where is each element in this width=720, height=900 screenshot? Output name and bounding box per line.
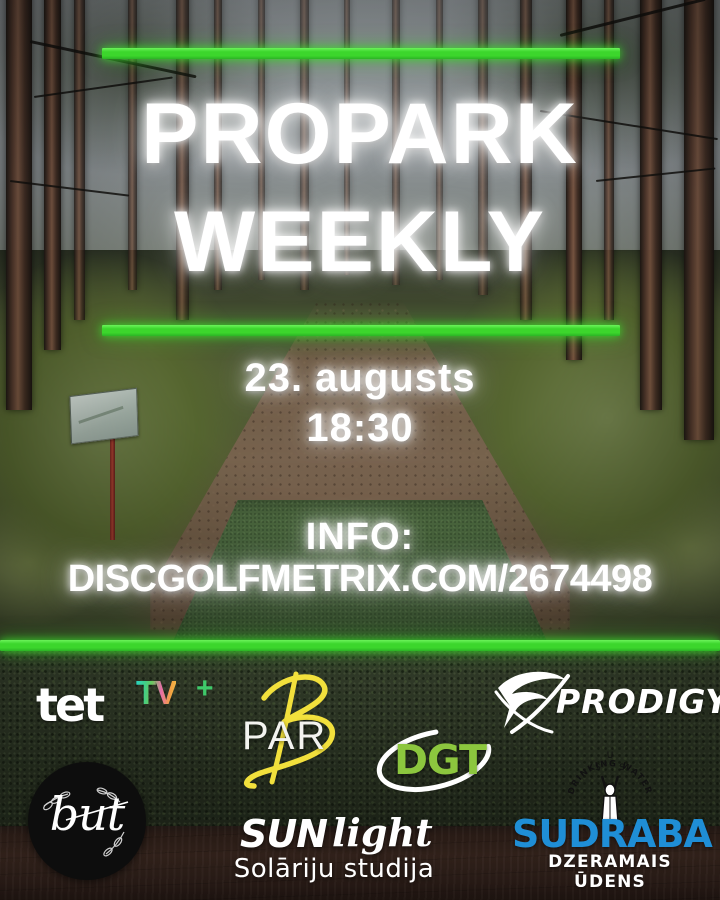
event-date: 23. augusts [0,354,720,402]
sunlight-sun-wordmark: SUN [240,812,327,856]
but-wordmark: but [28,788,146,840]
tet-plus-icon: + [196,672,214,706]
info-url: DISCGOLFMETRIX.COM/2674498 [0,556,720,602]
event-time: 18:30 [0,404,720,452]
divider-bar-top [102,48,620,59]
event-poster: PROPARK WEEKLY 23. augusts 18:30 INFO: D… [0,0,720,900]
tet-wordmark: tet [36,678,102,732]
sunlight-subtitle: Solāriju studija [228,854,440,884]
sponsor-logo-sudraba[interactable]: U S S DRINKING WATER SUDRABA DZERAMAIS Ū… [512,746,708,878]
sudraba-subtitle: DZERAMAIS ŪDENS [512,852,708,892]
dgt-wordmark: DGT [394,736,486,784]
sponsor-logo-3par[interactable]: PAR [232,662,350,790]
3par-wordmark: PAR [242,714,327,759]
divider-bar-bottom [0,640,720,651]
prodigy-wordmark: PRODIGY [556,682,720,721]
liberty-monument-icon: U S S DRINKING WATER [568,746,652,822]
sponsor-logo-sunlight[interactable]: SUN light Solāriju studija [228,812,440,884]
sudraba-wordmark: SUDRABA [512,812,708,856]
info-label: INFO: [0,514,720,560]
sponsor-logo-dgt[interactable]: DGT [372,722,500,796]
sponsor-logo-prodigy[interactable]: PRODIGY [490,666,708,736]
poster-title-line-2: WEEKLY [0,196,720,288]
sunlight-light-wordmark: light [332,810,433,855]
poster-title-line-1: PROPARK [0,88,720,180]
divider-bar-middle [102,325,620,336]
tet-tv-wordmark: TV [136,674,176,712]
sponsor-logo-tet[interactable]: tet TV + [36,676,216,732]
sponsor-logo-but[interactable]: but [28,762,146,880]
